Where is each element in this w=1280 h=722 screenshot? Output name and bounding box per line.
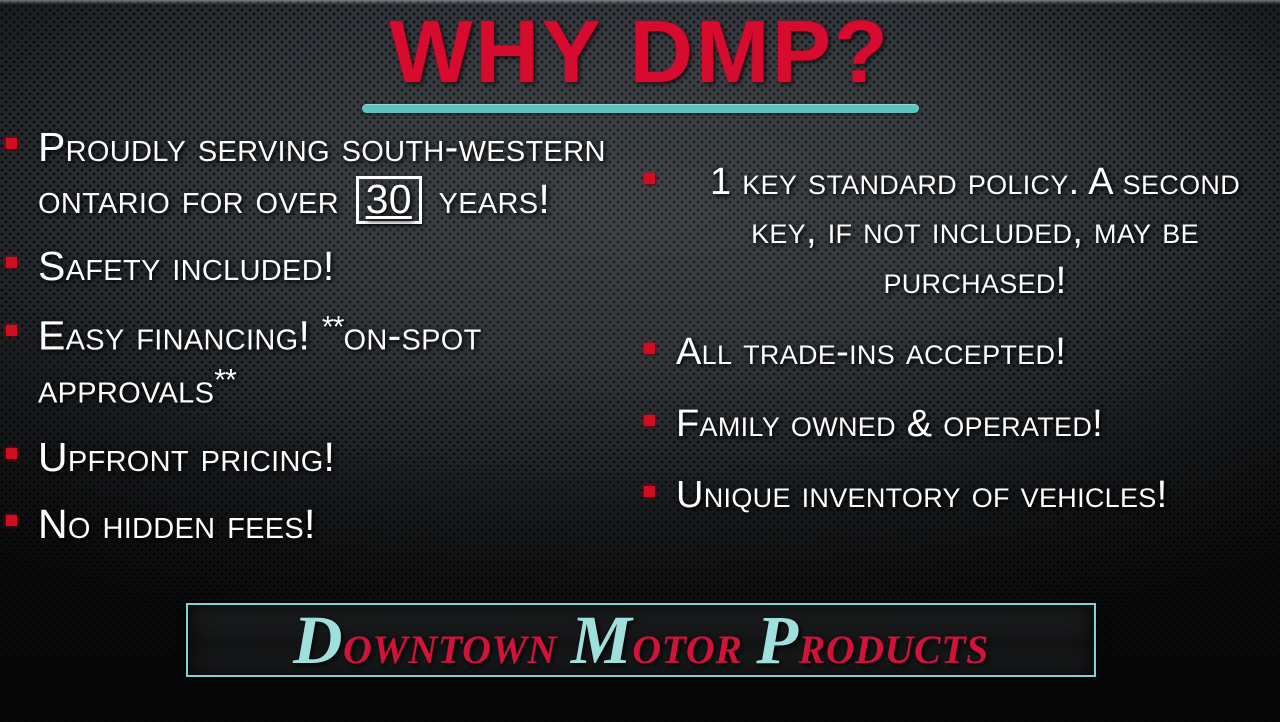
- right-bullet-column: 1 key standard policy. A second key, if …: [644, 158, 1274, 542]
- slide-canvas: WHY DMP? Proudly serving south-western o…: [0, 0, 1280, 722]
- list-item: Unique inventory of vehicles!: [644, 471, 1274, 520]
- page-title: WHY DMP?: [0, 8, 1280, 96]
- list-item: No hidden fees!: [6, 499, 652, 551]
- logo-cap-d: D: [293, 603, 343, 677]
- bullet-text-proudly-serving: Proudly serving south-western ontario fo…: [38, 122, 652, 225]
- bullet-square-icon: [644, 343, 655, 354]
- title-block: WHY DMP?: [0, 8, 1280, 113]
- bullet-square-icon: [6, 325, 17, 336]
- bullet-text-safety-included: Safety included!: [38, 241, 652, 293]
- bullet-square-icon: [6, 257, 17, 268]
- bullet-square-icon: [6, 515, 17, 526]
- logo-cap-m: M: [571, 603, 632, 677]
- logo-rest-products: roducts: [799, 613, 989, 676]
- bullet-square-icon: [6, 448, 17, 459]
- bullet-text-family-owned: Family owned & operated!: [676, 400, 1274, 449]
- logo-cap-p: P: [756, 603, 798, 677]
- bullet-text-prefix: Easy financing!: [38, 313, 322, 359]
- title-underline-rule: [362, 104, 919, 113]
- list-item: 1 key standard policy. A second key, if …: [644, 158, 1274, 306]
- logo-rest-motor: otor: [632, 613, 742, 676]
- company-logo-text: DowntownMotorProducts: [293, 606, 989, 674]
- list-item: Easy financing! **on-spot approvals**: [6, 309, 652, 416]
- list-item: Safety included!: [6, 241, 652, 293]
- list-item: Proudly serving south-western ontario fo…: [6, 122, 652, 225]
- logo-rest-downtown: owntown: [343, 613, 557, 676]
- bullet-square-icon: [644, 173, 655, 184]
- company-logo-panel: DowntownMotorProducts: [186, 603, 1096, 677]
- bullet-text-upfront-pricing: Upfront pricing!: [38, 432, 652, 484]
- bullet-text-unique-inventory: Unique inventory of vehicles!: [676, 471, 1274, 520]
- bullet-square-icon: [644, 415, 655, 426]
- list-item: All trade-ins accepted!: [644, 328, 1274, 377]
- list-item: Upfront pricing!: [6, 432, 652, 484]
- asterisks-after: **: [214, 364, 236, 397]
- boxed-years-value: 30: [356, 176, 422, 225]
- asterisks-before: **: [322, 311, 344, 344]
- bullet-text-easy-financing: Easy financing! **on-spot approvals**: [38, 309, 652, 416]
- bullet-text-suffix: years!: [427, 176, 550, 222]
- bullet-square-icon: [6, 138, 17, 149]
- bullet-text-trade-ins: All trade-ins accepted!: [676, 328, 1274, 377]
- bullet-text-no-hidden-fees: No hidden fees!: [38, 499, 652, 551]
- bullet-square-icon: [644, 486, 655, 497]
- list-item: Family owned & operated!: [644, 400, 1274, 449]
- bullet-text-key-policy: 1 key standard policy. A second key, if …: [676, 158, 1274, 306]
- left-bullet-column: Proudly serving south-western ontario fo…: [6, 122, 652, 567]
